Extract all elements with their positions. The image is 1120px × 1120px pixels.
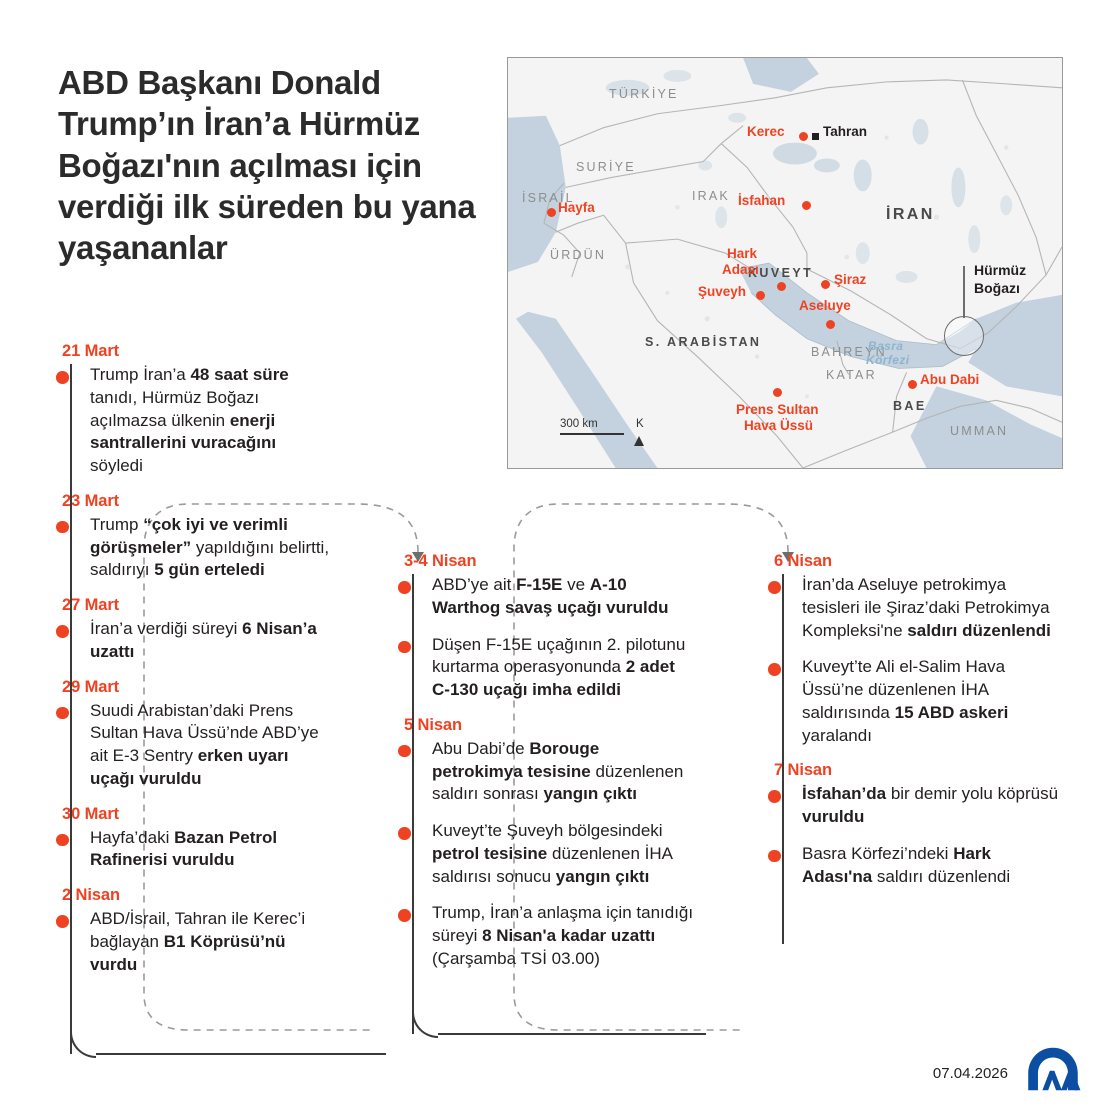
map-callout-stem bbox=[963, 266, 965, 318]
timeline-date: 23 Mart bbox=[62, 492, 330, 511]
timeline-bullet-icon bbox=[768, 850, 781, 863]
timeline-bullet-icon bbox=[768, 581, 781, 594]
map-city-abu-dabi: Abu Dabi bbox=[920, 372, 979, 387]
timeline-group: 30 Mart Hayfa’daki Bazan Petrol Rafineri… bbox=[62, 805, 330, 873]
map-country-suriye: SURİYE bbox=[576, 160, 636, 174]
map-country-umman: UMMAN bbox=[950, 424, 1008, 438]
timeline-date: 2 Nisan bbox=[62, 886, 330, 905]
timeline-bullet-icon bbox=[398, 581, 411, 594]
map-marker-suveyh bbox=[756, 291, 765, 300]
map-callout-label-line1: Hürmüz bbox=[974, 262, 1026, 279]
timeline-column-3: 6 Nisan İran’da Aseluye petrokimya tesis… bbox=[774, 552, 1059, 902]
timeline-item: ABD/İsrail, Tahran ile Kerec’i bağlayan … bbox=[62, 908, 330, 976]
map-city-isfahan: İsfahan bbox=[738, 193, 785, 208]
map-country-urdun: ÜRDÜN bbox=[550, 248, 606, 262]
timeline-item-text: Trump İran’a 48 saat süre tanıdı, Hürmüz… bbox=[90, 364, 330, 478]
timeline-item-text: Kuveyt’te Şuveyh bölgesindeki petrol tes… bbox=[432, 820, 694, 888]
timeline-item-text: Abu Dabi’de Borouge petrokimya tesisine … bbox=[432, 738, 694, 806]
timeline-item-text: ABD/İsrail, Tahran ile Kerec’i bağlayan … bbox=[90, 908, 330, 976]
map-marker-abu-dabi bbox=[908, 380, 917, 389]
timeline-item-text: Hayfa’daki Bazan Petrol Rafinerisi vurul… bbox=[90, 827, 330, 873]
timeline-item-text: Basra Körfezi’ndeki Hark Adası'na saldır… bbox=[802, 843, 1059, 889]
timeline-group: 2 Nisan ABD/İsrail, Tahran ile Kerec’i b… bbox=[62, 886, 330, 976]
timeline-item-text: İsfahan’da bir demir yolu köprüsü vuruld… bbox=[802, 783, 1059, 829]
map-north-label: K bbox=[636, 418, 644, 430]
aa-logo-icon bbox=[1024, 1046, 1082, 1092]
map-city-hayfa: Hayfa bbox=[558, 200, 595, 215]
map-country-turkiye: TÜRKİYE bbox=[609, 87, 679, 101]
timeline-bullet-icon bbox=[56, 625, 69, 638]
timeline-bullet-icon bbox=[398, 827, 411, 840]
timeline-date: 3-4 Nisan bbox=[404, 552, 694, 571]
map-city-kerec: Kerec bbox=[747, 124, 785, 139]
map-country-bae: BAE bbox=[893, 399, 927, 413]
timeline-group: 27 Mart İran’a verdiği süreyi 6 Nisan’a … bbox=[62, 596, 330, 664]
map-marker-hayfa bbox=[547, 208, 556, 217]
timeline-bullet-icon bbox=[56, 707, 69, 720]
timeline-item: Suudi Arabistan’daki Prens Sultan Hava Ü… bbox=[62, 700, 330, 791]
timeline-bullet-icon bbox=[398, 909, 411, 922]
timeline-group: 21 Mart Trump İran’a 48 saat süre tanıdı… bbox=[62, 342, 330, 478]
map-marker-hark-adasi bbox=[777, 282, 786, 291]
map-country-s-arabistan: S. ARABİSTAN bbox=[645, 335, 761, 349]
map-city-hark: Hark bbox=[727, 246, 757, 261]
timeline-group: 3-4 Nisan ABD’ye ait F-15E ve A-10 Warth… bbox=[404, 552, 694, 702]
timeline-item-text: Trump “çok iyi ve verimli görüşmeler” ya… bbox=[90, 514, 330, 582]
timeline-date: 7 Nisan bbox=[774, 761, 1059, 780]
timeline-item: Kuveyt’te Ali el-Salim Hava Üssü’ne düze… bbox=[774, 656, 1059, 747]
map-marker-aseluye bbox=[826, 320, 835, 329]
timeline-item: Düşen F-15E uçağının 2. pilotunu kurtarm… bbox=[404, 634, 694, 702]
timeline-item: ABD’ye ait F-15E ve A-10 Warthog savaş u… bbox=[404, 574, 694, 620]
timeline-item: Trump, İran’a anlaşma için tanıdığı süre… bbox=[404, 902, 694, 970]
map-marker-kerec bbox=[799, 132, 808, 141]
timeline-date: 6 Nisan bbox=[774, 552, 1059, 571]
page-title: ABD Başkanı Donald Trump’ın İran’a Hürmü… bbox=[58, 62, 488, 268]
map-marker-siraz bbox=[821, 280, 830, 289]
map-city-tahran: Tahran bbox=[823, 124, 867, 139]
timeline-item-text: Düşen F-15E uçağının 2. pilotunu kurtarm… bbox=[432, 634, 694, 702]
timeline-bullet-icon bbox=[398, 745, 411, 758]
timeline-item-text: ABD’ye ait F-15E ve A-10 Warthog savaş u… bbox=[432, 574, 694, 620]
timeline-item-text: Kuveyt’te Ali el-Salim Hava Üssü’ne düze… bbox=[802, 656, 1059, 747]
timeline-item: İran’da Aseluye petrokimya tesisleri ile… bbox=[774, 574, 1059, 642]
map-scale-line bbox=[560, 433, 624, 435]
publish-date: 07.04.2026 bbox=[933, 1065, 1008, 1082]
map-city-hava-ussu: Hava Üssü bbox=[744, 418, 813, 433]
map-scale-label: 300 km bbox=[560, 418, 624, 430]
map-country-katar: KATAR bbox=[826, 368, 877, 382]
timeline-item: Trump İran’a 48 saat süre tanıdı, Hürmüz… bbox=[62, 364, 330, 478]
map-scale-bar: 300 km bbox=[560, 418, 624, 435]
timeline-item: Hayfa’daki Bazan Petrol Rafinerisi vurul… bbox=[62, 827, 330, 873]
timeline-group: 23 Mart Trump “çok iyi ve verimli görüşm… bbox=[62, 492, 330, 582]
timeline-item: İsfahan’da bir demir yolu köprüsü vuruld… bbox=[774, 783, 1059, 829]
timeline-group: 29 Mart Suudi Arabistan’daki Prens Sulta… bbox=[62, 678, 330, 791]
map-north-arrow-icon bbox=[634, 436, 644, 446]
map-callout-label-line2: Boğazı bbox=[974, 280, 1020, 297]
map-city-adasi: Adası bbox=[722, 262, 759, 277]
map-city-suveyh: Şuveyh bbox=[698, 284, 746, 299]
map-city-aseluye: Aseluye bbox=[799, 298, 851, 313]
timeline-bullet-icon bbox=[768, 663, 781, 676]
timeline-rail-2-tail bbox=[438, 1033, 706, 1035]
timeline-item-text: Trump, İran’a anlaşma için tanıdığı süre… bbox=[432, 902, 694, 970]
timeline-item-text: İran’da Aseluye petrokimya tesisleri ile… bbox=[802, 574, 1059, 642]
timeline-item-text: İran’a verdiği süreyi 6 Nisan’a uzattı bbox=[90, 618, 330, 664]
timeline-item: İran’a verdiği süreyi 6 Nisan’a uzattı bbox=[62, 618, 330, 664]
map-sea-label-basra: Basra bbox=[868, 339, 903, 353]
map-city-siraz: Şiraz bbox=[834, 272, 866, 287]
timeline-item: Kuveyt’te Şuveyh bölgesindeki petrol tes… bbox=[404, 820, 694, 888]
timeline-bullet-icon bbox=[56, 521, 69, 534]
timeline-bullet-icon bbox=[768, 790, 781, 803]
region-map: TÜRKİYE SURİYE IRAK İSRAİL ÜRDÜN S. ARAB… bbox=[507, 57, 1063, 469]
map-sea-label-korfezi: Körfezi bbox=[866, 353, 909, 367]
timeline-date: 27 Mart bbox=[62, 596, 330, 615]
map-marker-prens-sultan bbox=[773, 388, 782, 397]
timeline-item: Trump “çok iyi ve verimli görüşmeler” ya… bbox=[62, 514, 330, 582]
timeline-group: 7 Nisan İsfahan’da bir demir yolu köprüs… bbox=[774, 761, 1059, 888]
map-callout-circle-hurmuz bbox=[944, 316, 984, 356]
timeline-rail-1-tail bbox=[96, 1053, 386, 1055]
timeline-item-text: Suudi Arabistan’daki Prens Sultan Hava Ü… bbox=[90, 700, 330, 791]
timeline-bullet-icon bbox=[56, 371, 69, 384]
timeline-column-2: 3-4 Nisan ABD’ye ait F-15E ve A-10 Warth… bbox=[404, 552, 694, 985]
map-country-irak: IRAK bbox=[692, 189, 730, 203]
timeline-date: 5 Nisan bbox=[404, 716, 694, 735]
timeline-date: 29 Mart bbox=[62, 678, 330, 697]
timeline-bullet-icon bbox=[398, 641, 411, 654]
timeline-date: 30 Mart bbox=[62, 805, 330, 824]
map-marker-isfahan bbox=[802, 201, 811, 210]
timeline-group: 5 Nisan Abu Dabi’de Borouge petrokimya t… bbox=[404, 716, 694, 971]
timeline-bullet-icon bbox=[56, 915, 69, 928]
map-marker-tahran bbox=[812, 133, 819, 140]
map-city-prens-sultan: Prens Sultan bbox=[736, 402, 819, 417]
timeline-bullet-icon bbox=[56, 834, 69, 847]
timeline-date: 21 Mart bbox=[62, 342, 330, 361]
timeline-item: Abu Dabi’de Borouge petrokimya tesisine … bbox=[404, 738, 694, 806]
map-country-iran: İRAN bbox=[886, 206, 935, 224]
timeline-group: 6 Nisan İran’da Aseluye petrokimya tesis… bbox=[774, 552, 1059, 747]
timeline-item: Basra Körfezi’ndeki Hark Adası'na saldır… bbox=[774, 843, 1059, 889]
timeline-column-1: 21 Mart Trump İran’a 48 saat süre tanıdı… bbox=[62, 342, 330, 991]
